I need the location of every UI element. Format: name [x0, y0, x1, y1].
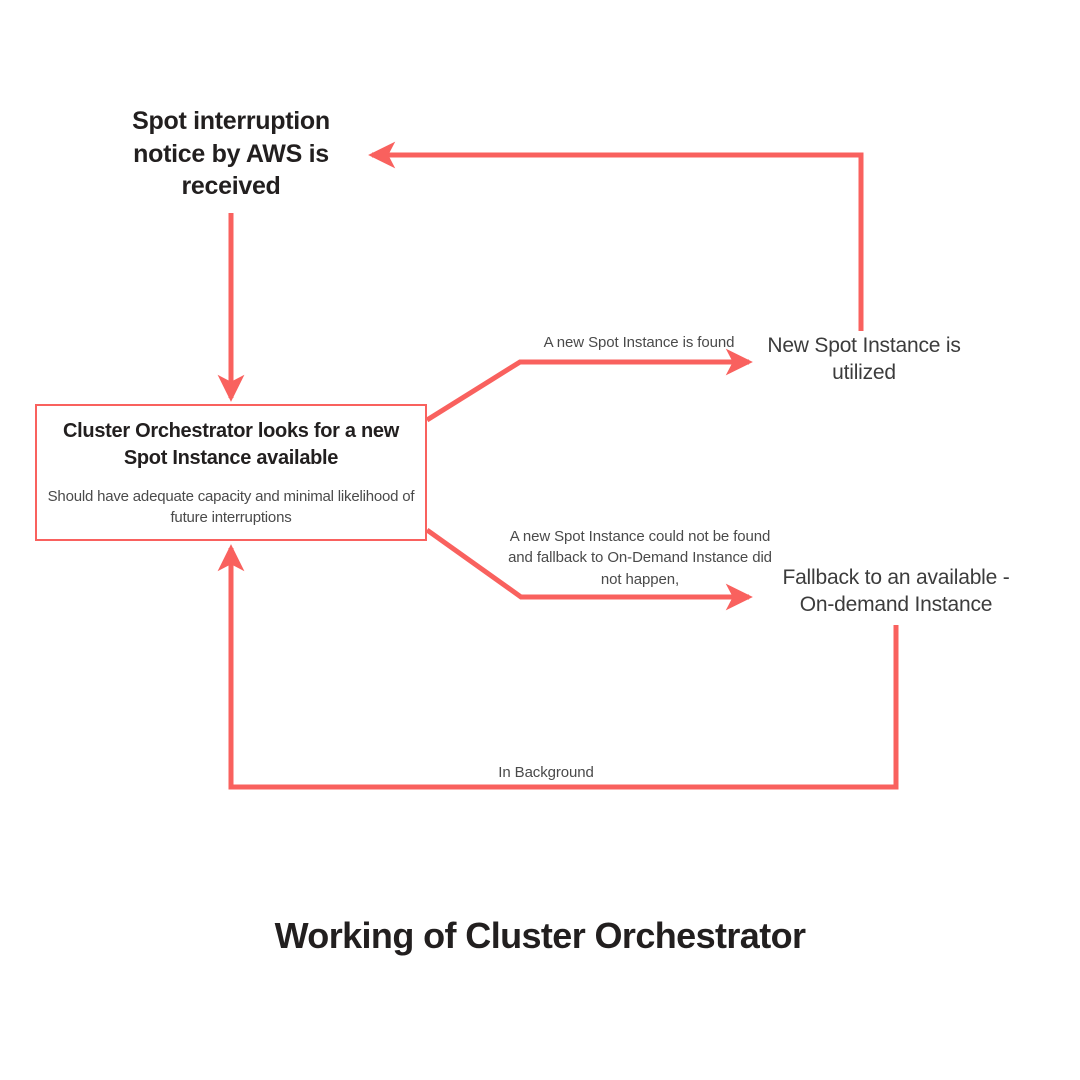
- node-spot-interruption-notice: Spot interruption notice by AWS is recei…: [105, 105, 357, 203]
- node-new-spot-instance-utilized: New Spot Instance is utilized: [752, 333, 976, 387]
- edge-label-in-background: In Background: [455, 762, 637, 783]
- node-cluster-orchestrator-title: Cluster Orchestrator looks for a new Spo…: [47, 418, 415, 472]
- node-cluster-orchestrator-subtitle: Should have adequate capacity and minima…: [47, 486, 415, 529]
- edge-utilized-to-interruption: [372, 155, 861, 331]
- edge-label-spot-instance-not-found: A new Spot Instance could not be found a…: [508, 526, 772, 590]
- node-fallback-on-demand-instance: Fallback to an available -On-demand Inst…: [772, 565, 1020, 619]
- diagram-title: Working of Cluster Orchestrator: [0, 915, 1080, 957]
- edge-label-spot-instance-found: A new Spot Instance is found: [512, 332, 766, 353]
- edge-orchestrator-to-utilized: [427, 362, 749, 420]
- diagram-canvas: Spot interruption notice by AWS is recei…: [0, 0, 1080, 1080]
